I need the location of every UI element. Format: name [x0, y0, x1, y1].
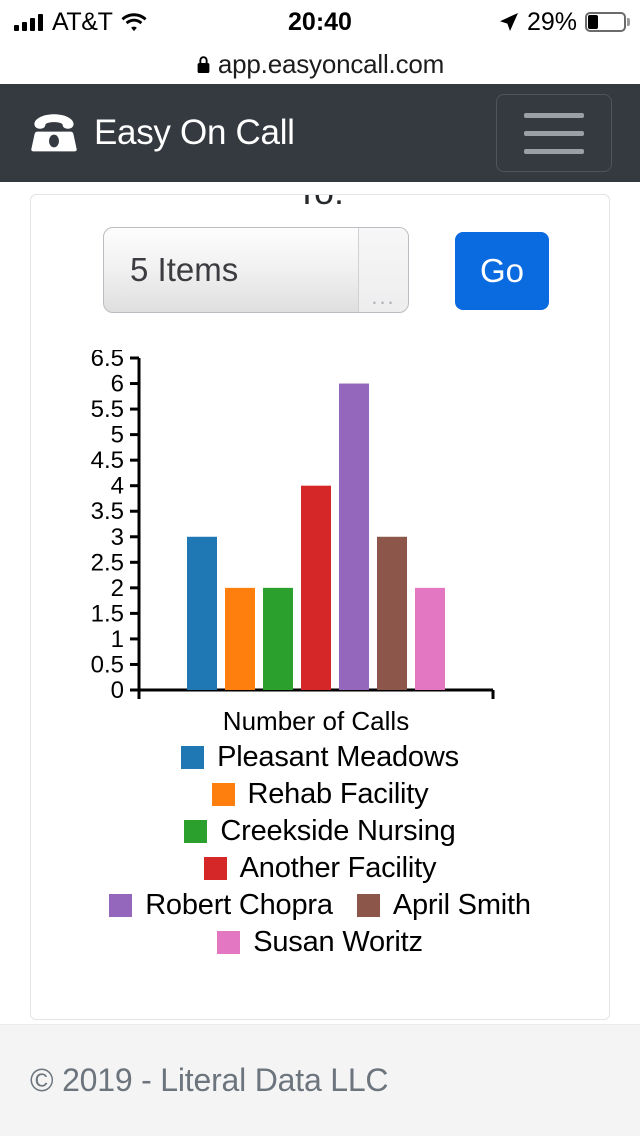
to-field-label: To: — [31, 194, 609, 213]
svg-text:0.5: 0.5 — [91, 651, 124, 678]
report-card: To: 5 Items ... Go 00.511.522.533.544.55… — [30, 194, 610, 1020]
svg-text:3.5: 3.5 — [91, 498, 124, 525]
legend-item: Robert Chopra — [109, 889, 333, 922]
svg-text:6.5: 6.5 — [91, 350, 124, 372]
wifi-icon — [121, 12, 147, 32]
lock-icon — [196, 55, 211, 74]
hamburger-menu-icon[interactable] — [496, 94, 612, 172]
page-footer: © 2019 - Literal Data LLC — [0, 1024, 640, 1136]
legend-swatch-icon — [184, 820, 207, 843]
location-arrow-icon — [499, 12, 519, 32]
legend-swatch-icon — [217, 931, 240, 954]
legend-row: Another Facility — [204, 852, 437, 885]
svg-text:6: 6 — [111, 371, 124, 398]
legend-row: Rehab Facility — [212, 778, 429, 811]
svg-text:1: 1 — [111, 626, 124, 653]
legend-item: Susan Woritz — [217, 926, 423, 959]
legend-label: Robert Chopra — [145, 889, 333, 922]
legend-swatch-icon — [109, 894, 132, 917]
svg-text:0: 0 — [111, 677, 124, 704]
hamburger-bar-2 — [524, 131, 584, 136]
recipients-select-value: 5 Items — [104, 251, 358, 289]
telephone-icon — [28, 113, 80, 153]
legend-swatch-icon — [181, 746, 204, 769]
brand-link[interactable]: Easy On Call — [28, 113, 295, 153]
battery-percent-label: 29% — [527, 8, 577, 37]
copyright-text: © 2019 - Literal Data LLC — [30, 1062, 388, 1099]
legend-row: Pleasant Meadows — [181, 741, 459, 774]
svg-text:4.5: 4.5 — [91, 447, 124, 474]
svg-text:4: 4 — [111, 473, 124, 500]
legend-item: Rehab Facility — [212, 778, 429, 811]
ios-status-bar: AT&T 20:40 29% — [0, 0, 640, 44]
chart-legend: Pleasant MeadowsRehab FacilityCreekside … — [31, 741, 609, 959]
legend-label: Susan Woritz — [253, 926, 423, 959]
carrier-label: AT&T — [52, 8, 112, 37]
svg-text:5: 5 — [111, 422, 124, 449]
page-body: To: 5 Items ... Go 00.511.522.533.544.55… — [0, 182, 640, 1136]
legend-swatch-icon — [212, 783, 235, 806]
status-bar-right: 29% — [499, 8, 626, 37]
chart-svg: 00.511.522.533.544.555.566.5Number of Ca… — [31, 350, 610, 730]
svg-text:1.5: 1.5 — [91, 600, 124, 627]
svg-text:5.5: 5.5 — [91, 396, 124, 423]
recipients-select-indicator: ... — [358, 228, 408, 312]
go-button[interactable]: Go — [455, 232, 549, 310]
svg-text:2.5: 2.5 — [91, 549, 124, 576]
legend-row: Robert ChopraApril Smith — [109, 889, 531, 922]
url-text: app.easyoncall.com — [218, 49, 444, 80]
browser-address-bar[interactable]: app.easyoncall.com — [0, 44, 640, 84]
hamburger-bar-1 — [524, 113, 584, 118]
brand-title: Easy On Call — [94, 113, 295, 153]
svg-text:2: 2 — [111, 575, 124, 602]
legend-row: Susan Woritz — [217, 926, 423, 959]
svg-text:3: 3 — [111, 524, 124, 551]
legend-row: Creekside Nursing — [184, 815, 455, 848]
legend-label: Creekside Nursing — [220, 815, 455, 848]
filter-controls-row: 5 Items ... Go — [31, 227, 609, 327]
legend-item: Another Facility — [204, 852, 437, 885]
battery-icon — [585, 12, 626, 32]
legend-item: Pleasant Meadows — [181, 741, 459, 774]
app-navbar: Easy On Call — [0, 84, 640, 182]
legend-label: Another Facility — [240, 852, 437, 885]
hamburger-bar-3 — [524, 149, 584, 154]
legend-label: April Smith — [393, 889, 531, 922]
svg-text:Number of Calls: Number of Calls — [223, 706, 409, 730]
legend-label: Pleasant Meadows — [217, 741, 459, 774]
legend-label: Rehab Facility — [248, 778, 429, 811]
legend-swatch-icon — [357, 894, 380, 917]
ellipsis-icon: ... — [359, 293, 408, 301]
legend-item: Creekside Nursing — [184, 815, 455, 848]
legend-swatch-icon — [204, 857, 227, 880]
legend-item: April Smith — [357, 889, 531, 922]
recipients-select[interactable]: 5 Items ... — [103, 227, 409, 313]
status-bar-left: AT&T — [14, 8, 147, 37]
cellular-bars-icon — [14, 14, 43, 31]
